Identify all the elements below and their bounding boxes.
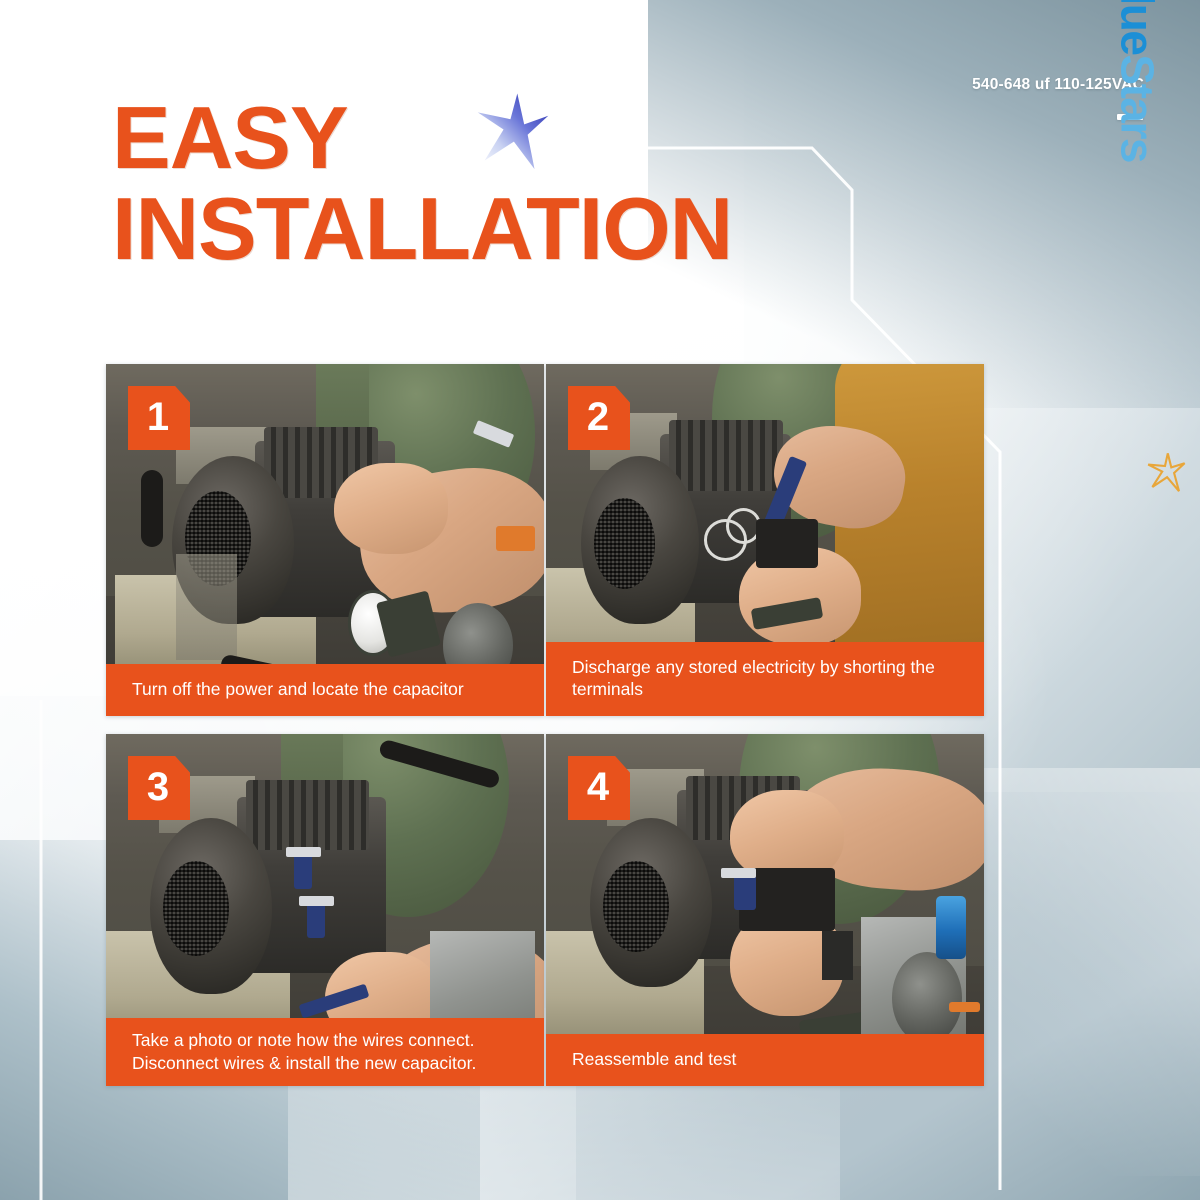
step-card-2[interactable]: 2 Discharge any stored electricity by sh… xyxy=(546,364,984,716)
step-caption-4: Reassemble and test xyxy=(546,1034,984,1086)
step-number-4: 4 xyxy=(587,767,609,807)
page-title: EASY INSTALLATION xyxy=(112,98,732,270)
step-number-badge-1: 1 xyxy=(128,386,190,450)
step-card-1[interactable]: 1 Turn off the power and locate the capa… xyxy=(106,364,544,716)
step-number-1: 1 xyxy=(147,397,169,437)
step-number-2: 2 xyxy=(587,397,609,437)
step-card-4[interactable]: 4 Reassemble and test xyxy=(546,734,984,1086)
brand-star-icon xyxy=(1144,452,1186,494)
step-caption-2: Discharge any stored electricity by shor… xyxy=(546,642,984,717)
steps-grid: 1 Turn off the power and locate the capa… xyxy=(106,364,984,1086)
brand-logo-blue: Blue xyxy=(1111,0,1163,54)
brand-logo: BlueStars xyxy=(1110,0,1164,162)
step-number-badge-2: 2 xyxy=(568,386,630,450)
step-caption-1: Turn off the power and locate the capaci… xyxy=(106,664,544,716)
brand-logo-stars: Stars xyxy=(1111,54,1163,162)
step-caption-3: Take a photo or note how the wires conne… xyxy=(106,1018,544,1086)
step-number-badge-3: 3 xyxy=(128,756,190,820)
step-card-3[interactable]: 3 Take a photo or note how the wires con… xyxy=(106,734,544,1086)
step-number-badge-4: 4 xyxy=(568,756,630,820)
title-line-2: INSTALLATION xyxy=(112,189,732,270)
step-number-3: 3 xyxy=(147,767,169,807)
title-line-1: EASY xyxy=(112,98,732,179)
